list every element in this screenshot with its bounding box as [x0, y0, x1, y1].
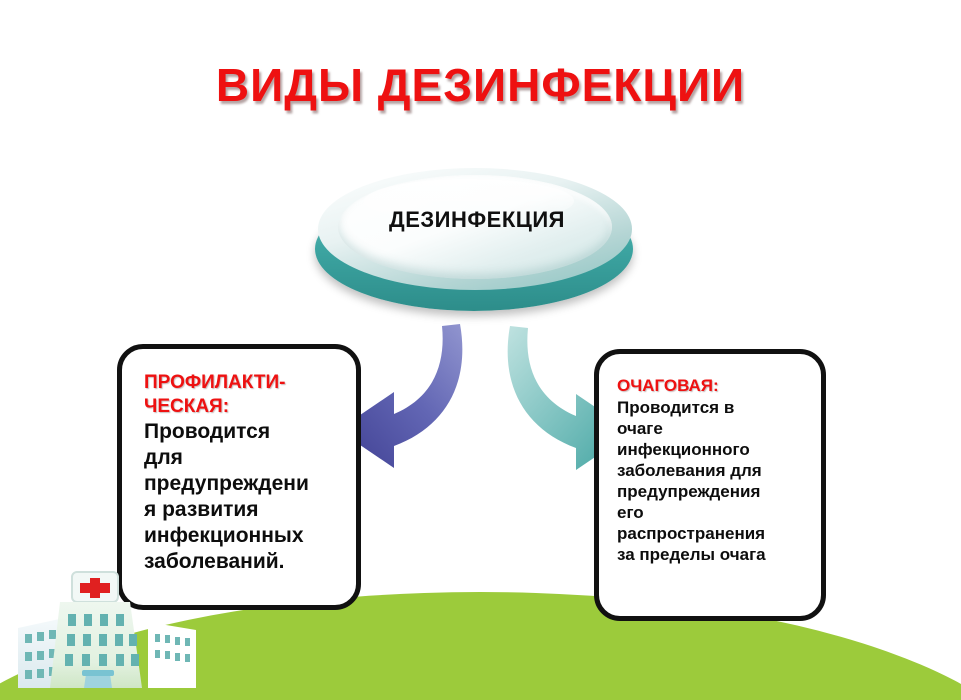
page-title: ВИДЫ ДЕЗИНФЕКЦИИ [0, 58, 961, 112]
branch-heading: ОЧАГОВАЯ: [617, 376, 811, 396]
branch-body-line: предупреждени [144, 471, 344, 497]
branch-heading-line1: ПРОФИЛАКТИ- [144, 371, 344, 394]
branch-body-line: за пределы очага [617, 544, 811, 565]
branch-body-line: его [617, 502, 811, 523]
hospital-building-icon [18, 570, 203, 695]
branch-heading-line2: ЧЕСКАЯ: [144, 395, 344, 418]
central-node-disc: ДЕЗИНФЕКЦИЯ [312, 163, 642, 323]
branch-body-line: распространения [617, 523, 811, 544]
branch-body-line: Проводится [144, 419, 344, 445]
slide-canvas: ВИДЫ ДЕЗИНФЕКЦИИ ДЕЗИНФЕКЦИЯ [0, 0, 961, 700]
branch-body-line: я развития [144, 497, 344, 523]
branch-body-line: для [144, 445, 344, 471]
branch-body-line: предупреждения [617, 481, 811, 502]
red-cross-icon [72, 572, 118, 602]
branch-body-line: инфекционных [144, 523, 344, 549]
central-node-label: ДЕЗИНФЕКЦИЯ [312, 207, 642, 233]
branch-body-line: инфекционного [617, 439, 811, 460]
branch-body-line: Проводится в [617, 397, 811, 418]
branch-body-line: заболевания для [617, 460, 811, 481]
branch-body-line: очаге [617, 418, 811, 439]
hospital-main-block [50, 602, 142, 688]
hospital-right-wing [148, 622, 196, 688]
branch-card-focal[interactable]: ОЧАГОВАЯ: Проводится в очаге инфекционно… [594, 349, 826, 621]
